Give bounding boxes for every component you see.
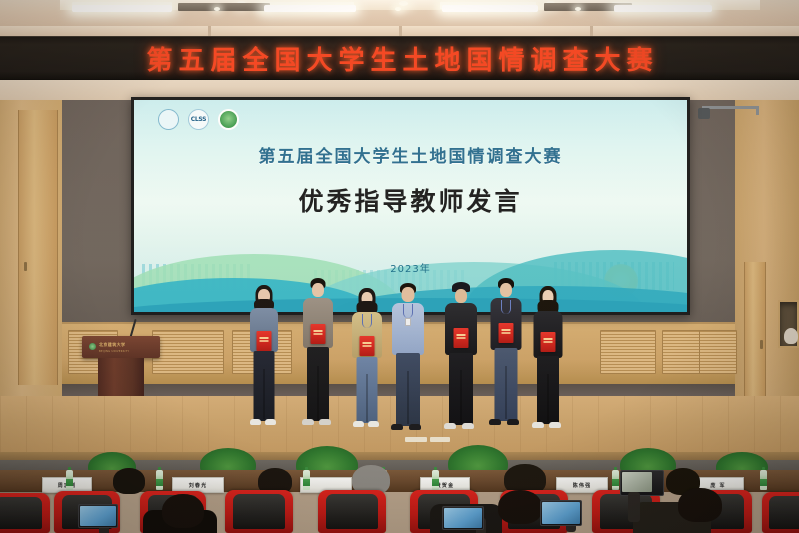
slide-date: 2023年: [134, 260, 687, 275]
smartphone[interactable]: [78, 504, 118, 528]
projector-arm: [702, 106, 758, 109]
bottle-label: [66, 479, 73, 486]
shoe: [409, 424, 421, 430]
shoe: [302, 419, 314, 425]
water-bottle: [612, 470, 619, 490]
wall-niche: [778, 300, 799, 348]
leg-gap: [366, 374, 368, 422]
shoe: [489, 419, 501, 425]
led-banner-text: 第五届全国大学生土地国情调查大赛: [140, 40, 658, 77]
certificate: [311, 324, 326, 344]
ceiling-spot: [395, 7, 401, 11]
auditorium-chair[interactable]: [318, 490, 386, 533]
ceiling-vent-strip: [178, 3, 270, 11]
stage-person-1: [243, 285, 285, 435]
door-left[interactable]: [18, 110, 58, 385]
wall-vent: [600, 330, 656, 374]
phone-screen: [80, 506, 116, 526]
chair-back: [233, 494, 285, 529]
shoe: [444, 423, 456, 429]
leg-gap: [263, 369, 265, 419]
fluorescent-tube: [614, 5, 712, 12]
shoe: [250, 419, 261, 425]
slide-logo-group: CLSS: [158, 109, 239, 130]
podium-logo-icon: [89, 343, 96, 350]
chair-back: [769, 496, 799, 529]
water-bottle: [66, 470, 73, 490]
shoe: [507, 419, 519, 425]
auditorium-chair[interactable]: [0, 493, 50, 533]
lanyard: [362, 314, 372, 328]
bottle-label: [432, 479, 439, 486]
id-badge: [405, 318, 411, 326]
water-bottle: [760, 470, 767, 490]
certificate: [257, 331, 272, 351]
podium-name-plate: 北京建筑大学: [99, 342, 125, 348]
slide-title: 第五届全国大学生土地国情调查大赛: [134, 142, 687, 167]
certificate: [454, 328, 469, 348]
bottle-label: [612, 479, 619, 486]
camera-screen: [622, 472, 652, 492]
audience-row: [0, 488, 799, 533]
phone-screen: [444, 508, 482, 528]
head: [402, 287, 415, 302]
head: [312, 283, 324, 297]
bottle-label: [156, 479, 163, 486]
chair-back: [326, 494, 378, 529]
fluorescent-tube: [72, 5, 172, 12]
certificate: [541, 332, 556, 352]
auditorium-chair[interactable]: [762, 492, 799, 533]
audience-head: [162, 494, 204, 528]
shoe: [368, 421, 379, 427]
ceiling-spot: [214, 7, 220, 11]
head: [455, 289, 467, 303]
leg-gap: [407, 371, 409, 424]
raised-arm: [628, 492, 640, 522]
ceiling-spot: [575, 7, 581, 11]
certificate: [360, 336, 375, 356]
leg-gap: [547, 374, 549, 422]
stage-person-3: [345, 288, 389, 436]
shoe: [265, 419, 276, 425]
ceiling-downlight: [399, 1, 408, 6]
shoe: [462, 423, 474, 429]
wall-vent: [152, 330, 224, 374]
leg-gap: [460, 370, 462, 423]
audience-head: [498, 490, 542, 524]
lanyard: [501, 300, 511, 314]
led-banner: 第五届全国大学生土地国情调查大赛: [0, 36, 799, 80]
water-bottle: [303, 470, 310, 490]
shoe: [391, 424, 403, 430]
leg-gap: [317, 366, 319, 420]
shoe: [353, 421, 364, 427]
shoe: [532, 422, 544, 428]
projector-arm-drop: [756, 106, 759, 115]
door-handle-left[interactable]: [24, 262, 27, 271]
bottle-label: [760, 479, 767, 486]
audience-head: [678, 488, 722, 522]
smartphone[interactable]: [442, 506, 484, 530]
door-handle-right[interactable]: [760, 340, 763, 349]
auditorium-chair[interactable]: [225, 490, 293, 533]
fluorescent-tube: [264, 5, 356, 12]
stage-person-2: [296, 278, 340, 436]
phone-screen: [542, 502, 580, 524]
certificate: [499, 323, 514, 343]
projector-head: [698, 108, 710, 119]
auditorium-scene: 第五届全国大学生土地国情调查大赛: [0, 0, 799, 533]
stage-person-4: [385, 283, 431, 438]
niche-object: [784, 328, 798, 344]
bottle-label: [303, 479, 310, 486]
projection-screen: CLSS 第五届全国大学生土地国情调查大赛 优秀指导教师发言 2023年: [134, 100, 687, 312]
digital-camera[interactable]: [620, 470, 664, 496]
head: [500, 283, 512, 297]
stage-person-6: [483, 278, 529, 436]
lanyard: [403, 304, 413, 318]
podium-sub-plate: BEIJING UNIVERSITY: [99, 350, 129, 353]
water-bottle: [432, 470, 439, 490]
slide-subtitle: 优秀指导教师发言: [134, 182, 687, 218]
water-bottle: [156, 470, 163, 490]
chair-back: [0, 497, 42, 529]
green-leaf-logo-icon: [218, 109, 239, 130]
smartphone[interactable]: [540, 500, 582, 526]
stage-person-7: [526, 286, 570, 436]
shoe: [319, 419, 331, 425]
leg-gap: [505, 366, 507, 419]
stage-person-5: [438, 282, 484, 438]
clss-logo-icon: CLSS: [188, 109, 209, 130]
university-emblem-icon: [158, 109, 179, 130]
shoe: [549, 422, 561, 428]
fluorescent-tube: [442, 5, 538, 12]
wall-vent: [699, 330, 737, 374]
